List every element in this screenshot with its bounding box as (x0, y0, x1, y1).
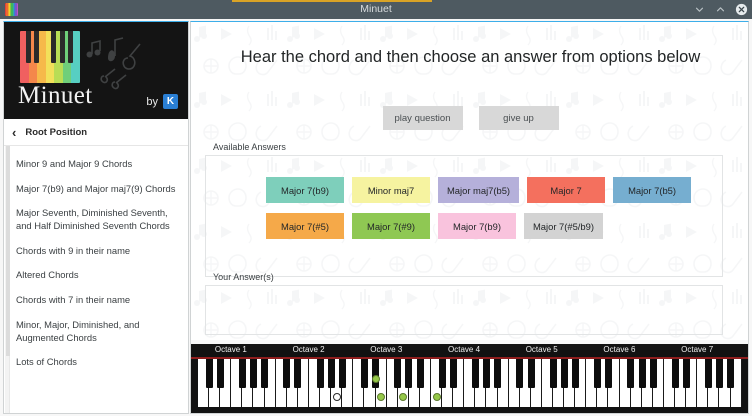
sidebar-item-label: Altered Chords (16, 269, 79, 280)
black-key-32[interactable] (561, 359, 568, 388)
sidebar-item-3[interactable]: Chords with 9 in their name (4, 239, 188, 264)
black-key-1[interactable] (217, 359, 224, 388)
answer-chip[interactable]: Major 7(#9) (352, 213, 430, 239)
titlebar: Minuet (0, 0, 752, 19)
window-title: Minuet (0, 0, 752, 19)
answer-chip-label: Major maj7(b5) (447, 185, 510, 196)
answer-chip-group: Major 7(b9)Minor maj7Major maj7(b5)Major… (205, 155, 723, 239)
black-key-25[interactable] (483, 359, 490, 388)
answer-chip[interactable]: Major 7(#5) (266, 213, 344, 239)
octave-label-3: Octave 3 (370, 345, 402, 354)
logo-panel: Minuet by (4, 22, 188, 119)
answer-chip-label: Major 7(b9) (281, 185, 329, 196)
exercise-pane: Hear the chord and then choose an answer… (190, 21, 749, 414)
black-key-35[interactable] (594, 359, 601, 388)
black-key-18[interactable] (405, 359, 412, 388)
octave-label-5: Octave 5 (526, 345, 558, 354)
sidebar-item-list: Minor 9 and Major 9 ChordsMajor 7(b9) an… (4, 146, 188, 375)
your-answers-label: Your Answer(s) (213, 272, 274, 282)
black-key-0[interactable] (206, 359, 213, 388)
octave-label-bar: Octave 1Octave 2Octave 3Octave 4Octave 5… (190, 344, 749, 359)
black-key-33[interactable] (572, 359, 579, 388)
black-key-5[interactable] (261, 359, 268, 388)
sidebar-item-label: Minor 9 and Major 9 Chords (16, 158, 132, 169)
black-key-43[interactable] (683, 359, 690, 388)
answer-chip-label: Major 7(#5) (281, 221, 329, 232)
sidebar-item-2[interactable]: Major Seventh, Diminished Seventh, and H… (4, 201, 188, 238)
sidebar-item-7[interactable]: Lots of Chords (4, 350, 188, 375)
your-answers-box[interactable] (205, 285, 723, 335)
note-marker-4 (433, 393, 441, 401)
chip-row-0: Major 7(b9)Minor maj7Major maj7(b5)Major… (205, 177, 723, 203)
answer-chip[interactable]: Major 7(#5/b9) (524, 213, 603, 239)
answer-chip-label: Major 7(#9) (367, 221, 415, 232)
page-title: Hear the chord and then choose an answer… (191, 48, 749, 67)
black-key-28[interactable] (516, 359, 523, 388)
logo-black-key (34, 31, 39, 63)
octave-label-4: Octave 4 (448, 345, 480, 354)
black-key-3[interactable] (239, 359, 246, 388)
kde-logo-icon: K (163, 94, 178, 109)
black-key-42[interactable] (672, 359, 679, 388)
black-key-26[interactable] (494, 359, 501, 388)
answer-chip-label: Major 7 (550, 185, 581, 196)
sidebar-item-4[interactable]: Altered Chords (4, 263, 188, 288)
available-answers-label: Available Answers (213, 142, 286, 152)
sidebar-header: ‹ Root Position (4, 119, 188, 146)
play-question-button[interactable]: play question (383, 106, 463, 130)
black-key-14[interactable] (361, 359, 368, 388)
attribution: by K (146, 94, 178, 109)
piano-keys (198, 359, 742, 407)
answer-chip[interactable]: Major 7(b5) (613, 177, 691, 203)
octave-label-7: Octave 7 (681, 345, 713, 354)
black-key-7[interactable] (283, 359, 290, 388)
black-key-15[interactable] (372, 359, 379, 388)
back-chevron-icon[interactable]: ‹ (12, 126, 16, 139)
black-key-46[interactable] (716, 359, 723, 388)
sidebar-item-label: Major 7(b9) and Major maj7(9) Chords (16, 183, 175, 194)
logo-black-key (60, 31, 65, 63)
give-up-button[interactable]: give up (479, 106, 559, 130)
minimize-button[interactable] (693, 3, 706, 16)
sidebar-item-label: Chords with 9 in their name (16, 245, 130, 256)
piano-keyboard: Octave 1Octave 2Octave 3Octave 4Octave 5… (190, 344, 749, 414)
sidebar-item-5[interactable]: Chords with 7 in their name (4, 288, 188, 313)
black-key-8[interactable] (294, 359, 301, 388)
black-key-36[interactable] (605, 359, 612, 388)
sidebar-item-label: Chords with 7 in their name (16, 294, 130, 305)
black-key-22[interactable] (450, 359, 457, 388)
black-key-38[interactable] (627, 359, 634, 388)
app-wordmark: Minuet (18, 82, 93, 110)
window-body: Minuet by (0, 19, 752, 416)
answer-chip-label: Major 7(#5/b9) (533, 221, 594, 232)
answer-chip[interactable]: Minor maj7 (352, 177, 430, 203)
black-key-31[interactable] (550, 359, 557, 388)
black-key-45[interactable] (705, 359, 712, 388)
sidebar-item-label: Major Seventh, Diminished Seventh, and H… (16, 207, 170, 231)
answer-chip-label: Minor maj7 (368, 185, 414, 196)
black-key-4[interactable] (250, 359, 257, 388)
sidebar-scrollbar-thumb[interactable] (6, 146, 10, 356)
answer-chip[interactable]: Major 7 (527, 177, 605, 203)
answer-chip[interactable]: Major 7(b9) (266, 177, 344, 203)
black-key-24[interactable] (472, 359, 479, 388)
black-key-19[interactable] (417, 359, 424, 388)
music-decor-icon (84, 36, 154, 92)
piano-area: Octave 1Octave 2Octave 3Octave 4Octave 5… (190, 340, 749, 414)
piano-logo-icon (20, 31, 80, 83)
black-key-21[interactable] (439, 359, 446, 388)
answer-chip-label: Major 7(b5) (628, 185, 676, 196)
sidebar-item-1[interactable]: Major 7(b9) and Major maj7(9) Chords (4, 177, 188, 202)
sidebar-item-6[interactable]: Minor, Major, Diminished, and Augmented … (4, 313, 188, 350)
sidebar-item-label: Lots of Chords (16, 356, 77, 367)
black-key-29[interactable] (528, 359, 535, 388)
black-key-11[interactable] (328, 359, 335, 388)
close-button[interactable] (735, 3, 748, 16)
sidebar-title: Root Position (25, 127, 87, 138)
sidebar-scroll-area: Minor 9 and Major 9 ChordsMajor 7(b9) an… (4, 146, 188, 414)
by-label: by (146, 96, 158, 108)
logo-black-key (26, 31, 31, 63)
logo-black-key (68, 31, 73, 63)
window-controls (693, 0, 748, 19)
octave-label-1: Octave 1 (215, 345, 247, 354)
logo-black-key (51, 31, 56, 63)
octave-label-6: Octave 6 (603, 345, 635, 354)
minuet-window: Minuet Minuet (0, 0, 752, 416)
note-marker-0 (333, 393, 341, 401)
answer-chip[interactable]: Major maj7(b5) (438, 177, 519, 203)
black-key-47[interactable] (727, 359, 734, 388)
sidebar-scrollbar[interactable] (5, 146, 10, 414)
maximize-button[interactable] (714, 3, 727, 16)
black-key-39[interactable] (639, 359, 646, 388)
black-key-17[interactable] (394, 359, 401, 388)
note-marker-1 (372, 375, 380, 383)
chip-row-1: Major 7(#5)Major 7(#9)Major 7(b9)Major 7… (205, 213, 723, 239)
sidebar: Minuet by (3, 21, 189, 414)
action-buttons: play question give up (191, 106, 749, 130)
sidebar-item-label: Minor, Major, Diminished, and Augmented … (16, 319, 140, 343)
black-key-12[interactable] (339, 359, 346, 388)
black-key-10[interactable] (317, 359, 324, 388)
sidebar-item-0[interactable]: Minor 9 and Major 9 Chords (4, 152, 188, 177)
answer-chip-label: Major 7(b9) (453, 221, 501, 232)
octave-label-2: Octave 2 (293, 345, 325, 354)
answer-chip[interactable]: Major 7(b9) (438, 213, 516, 239)
black-key-40[interactable] (650, 359, 657, 388)
